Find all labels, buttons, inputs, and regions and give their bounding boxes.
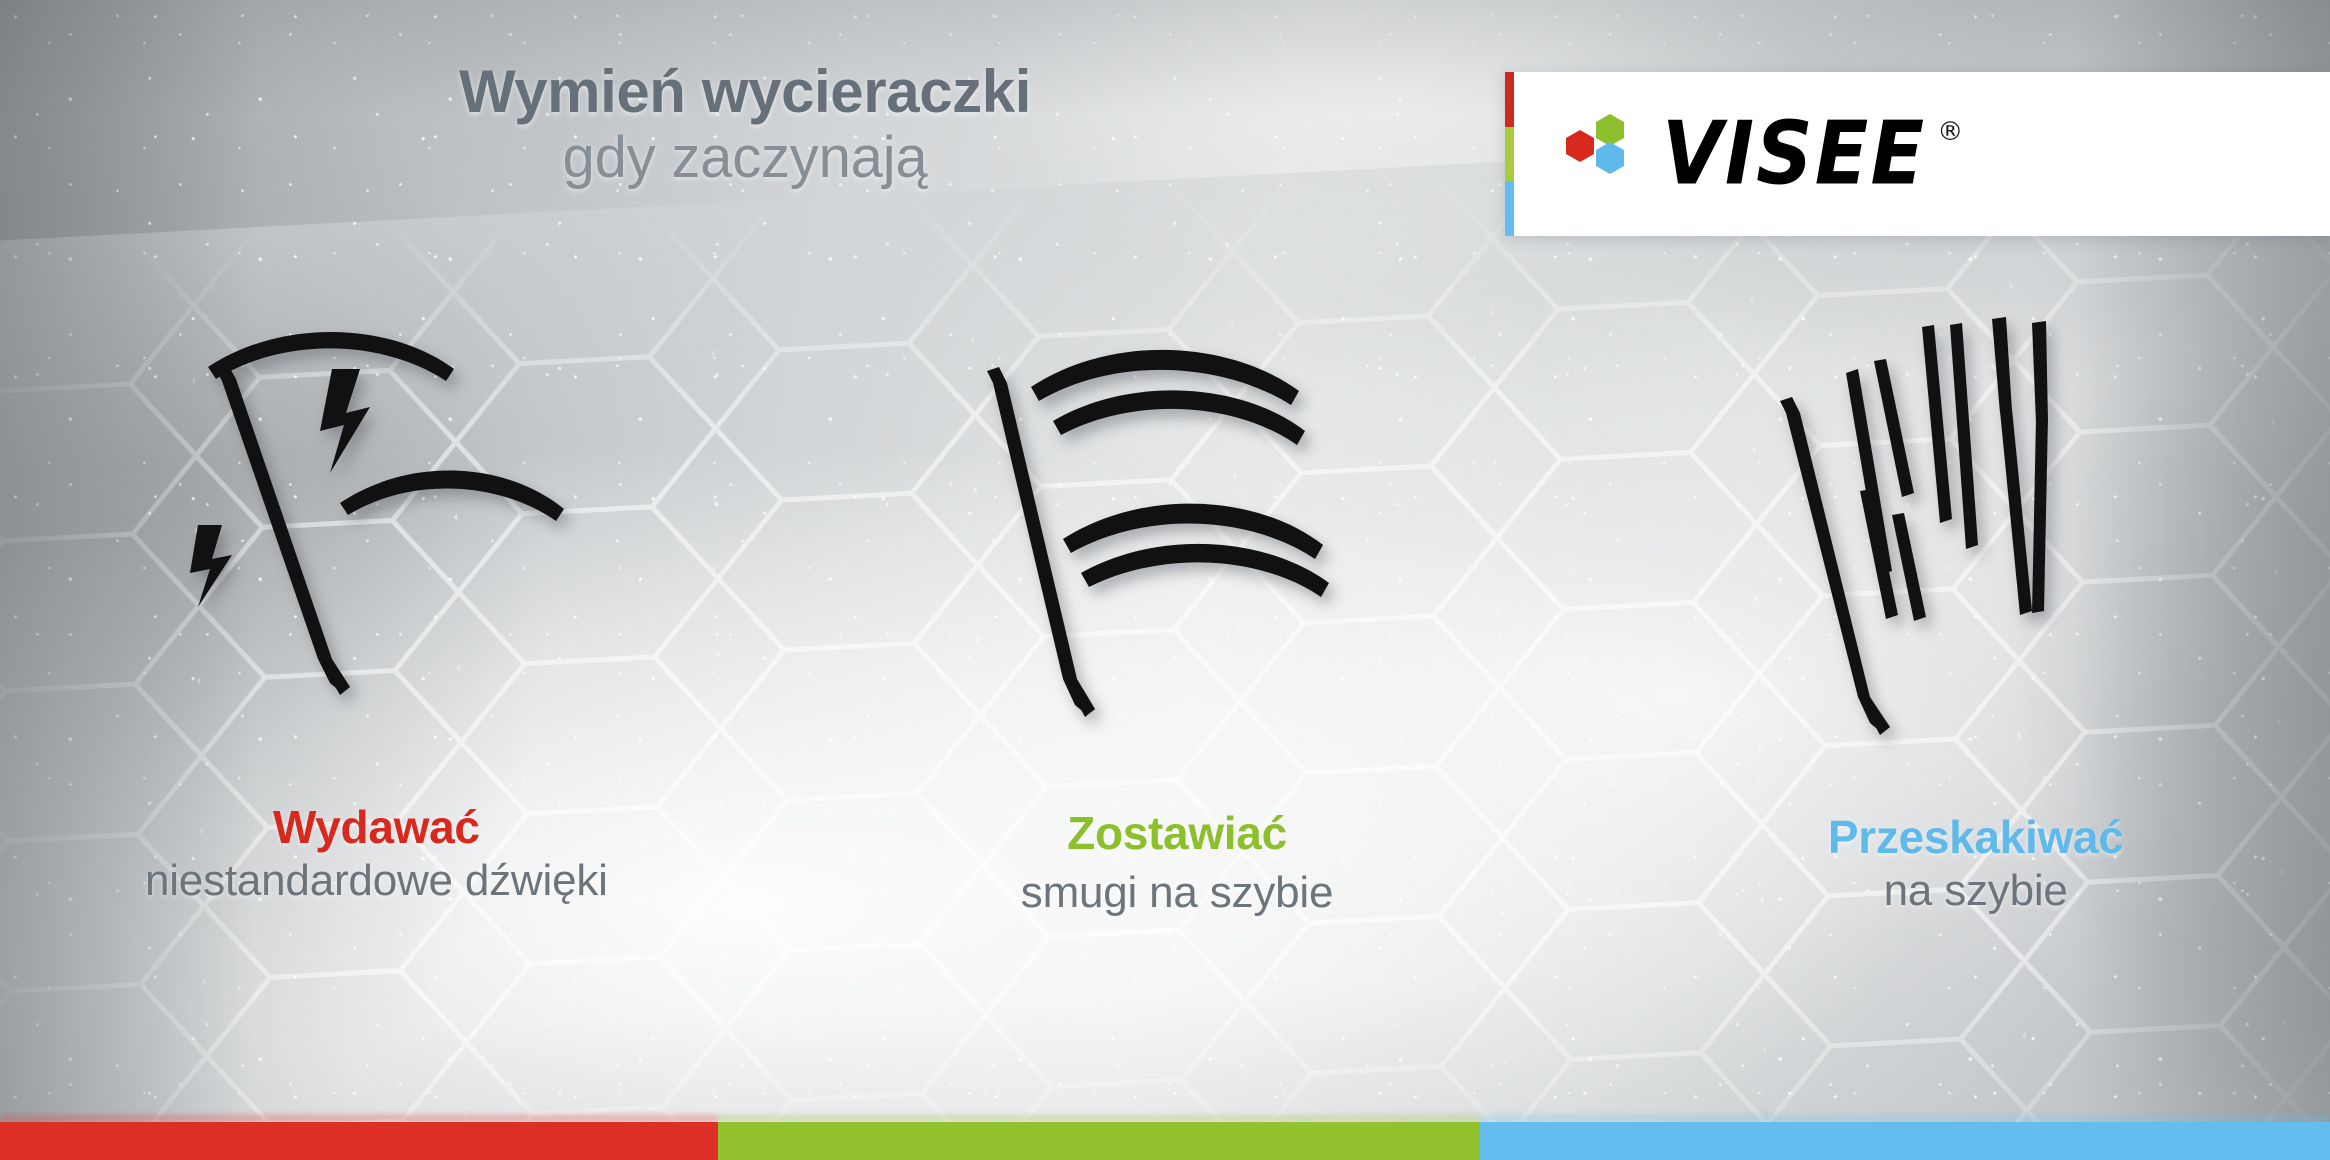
wiper-blade-noise-icon: [164, 307, 604, 747]
bottom-strip-glow: [0, 1115, 2330, 1122]
brand-logo: VISEE ®: [1550, 108, 1963, 200]
headline: Wymień wycieraczki: [0, 58, 1490, 125]
brand-logo-panel: VISEE ®: [1505, 72, 2330, 236]
illustration-cell-noise: [0, 300, 777, 770]
hexagon-cluster-icon: [1550, 108, 1658, 200]
registered-trademark-icon: ®: [1937, 119, 1963, 145]
illustration-cell-skipping: [1553, 300, 2330, 770]
illustration-cell-streaks: [777, 300, 1554, 770]
caption-title: Zostawiać: [789, 806, 1566, 860]
subheadline: gdy zaczynają: [0, 125, 1490, 191]
caption-subtitle: na szybie: [1587, 864, 2330, 918]
color-bar-blue-segment: [1505, 181, 1514, 236]
illustration-row: [0, 300, 2330, 770]
logo-white-field: VISEE ®: [1514, 72, 2330, 236]
brand-name: VISEE: [1662, 110, 1926, 197]
caption-subtitle: niestandardowe dźwięki: [0, 854, 765, 908]
header-block: Wymień wycieraczki gdy zaczynają: [0, 58, 1490, 191]
wiper-blade-skipping-icon: [1744, 315, 2184, 755]
caption-title: Przeskakiwać: [1587, 810, 2330, 864]
caption-subtitle: smugi na szybie: [789, 866, 1566, 920]
strip-segment-blue: [1480, 1122, 2330, 1160]
bottom-color-strip: [0, 1122, 2330, 1160]
caption-noise: Wydawać niestandardowe dźwięki: [0, 800, 765, 920]
promo-banner: Wymień wycieraczki gdy zaczynają: [0, 0, 2330, 1160]
brand-wordmark: VISEE ®: [1662, 117, 1963, 191]
strip-segment-red: [0, 1122, 718, 1160]
caption-title: Wydawać: [0, 800, 765, 854]
wiper-blade-streaks-icon: [953, 323, 1393, 763]
caption-skipping: Przeskakiwać na szybie: [1587, 800, 2330, 920]
caption-row: Wydawać niestandardowe dźwięki Zostawiać…: [0, 800, 2330, 920]
strip-segment-green: [718, 1122, 1480, 1160]
color-bar-red-segment: [1505, 72, 1514, 127]
color-bar-green-segment: [1505, 127, 1514, 182]
caption-streaks: Zostawiać smugi na szybie: [789, 800, 1566, 920]
brand-color-bar: [1505, 72, 1514, 236]
